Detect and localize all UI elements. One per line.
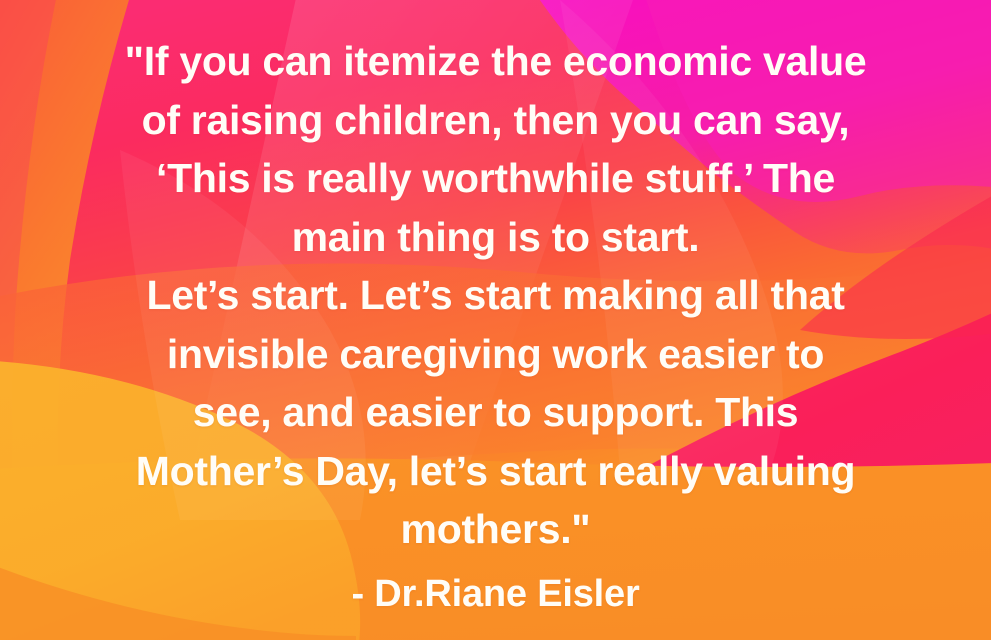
quote-line-5: Let’s start. Let’s start making all that [146, 266, 844, 325]
quote-line-1: "If you can itemize the economic value [125, 32, 867, 91]
quote-text-block: "If you can itemize the economic value o… [0, 0, 991, 640]
quote-line-6: invisible caregiving work easier to [167, 325, 824, 384]
quote-line-3: ‘This is really worthwhile stuff.’ The [156, 149, 835, 208]
quote-line-9: mothers." [401, 500, 591, 559]
quote-line-8: Mother’s Day, let’s start really valuing [136, 442, 855, 501]
quote-attribution: - Dr.Riane Eisler [351, 566, 639, 622]
quote-line-2: of raising children, then you can say, [142, 91, 850, 150]
quote-card: "If you can itemize the economic value o… [0, 0, 991, 640]
quote-line-7: see, and easier to support. This [193, 383, 799, 442]
quote-line-4: main thing is to start. [292, 208, 700, 267]
